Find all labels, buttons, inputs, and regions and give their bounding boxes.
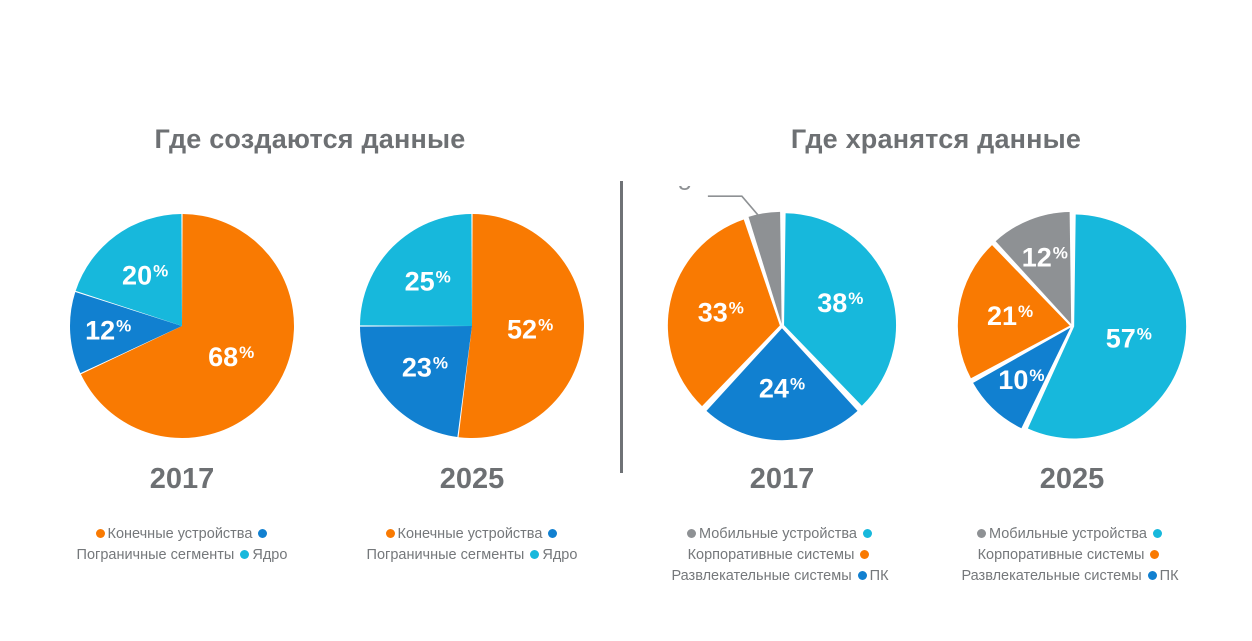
legend-dot-icon xyxy=(548,529,557,538)
pie-chart-stored-2017: 38%24%33%5% xyxy=(637,186,927,454)
pie-canvas: 57%10%21%12% xyxy=(927,186,1217,454)
legend-dot-icon xyxy=(860,550,869,559)
legend-dot-icon xyxy=(687,529,696,538)
legend-dot-icon xyxy=(863,529,872,538)
vertical-divider xyxy=(620,181,623,473)
pie-chart-created-2025: 52%23%25% xyxy=(327,186,617,454)
infographic-canvas: Где создаются данные Где хранятся данные… xyxy=(0,0,1252,641)
year-label: 2017 xyxy=(637,463,927,496)
pie-canvas: 38%24%33%5% xyxy=(637,186,927,454)
pie-canvas: 68%12%20% xyxy=(37,186,327,454)
legend-item-label: Ядро xyxy=(252,547,287,563)
legend-dot-icon xyxy=(530,550,539,559)
legend-dot-icon xyxy=(977,529,986,538)
legend-item-label: Пограничные сегменты xyxy=(77,547,235,563)
pie-svg: 57%10%21%12% xyxy=(927,186,1217,454)
legend-item-label: Пограничные сегменты xyxy=(367,547,525,563)
legend-dot-icon xyxy=(858,571,867,580)
legend-dot-icon xyxy=(258,529,267,538)
legend-created-2025: Конечные устройства Пограничные сегменты… xyxy=(322,524,622,566)
legend-dot-icon xyxy=(96,529,105,538)
legend-created-2017: Конечные устройства Пограничные сегменты… xyxy=(32,524,332,566)
year-label: 2025 xyxy=(927,463,1217,496)
legend-dot-icon xyxy=(1148,571,1157,580)
legend-item-label: ПК xyxy=(1160,568,1179,584)
legend-item-label: ПК xyxy=(870,568,889,584)
legend-dot-icon xyxy=(240,550,249,559)
pie-svg: 52%23%25% xyxy=(327,186,617,454)
legend-item-label: Мобильные устройства xyxy=(989,526,1147,542)
legend-item-label: Конечные устройства xyxy=(398,526,543,542)
panel-title-data-stored: Где хранятся данные xyxy=(620,124,1252,155)
legend-item-label: Развлекательные системы xyxy=(671,568,851,584)
legend-dot-icon xyxy=(386,529,395,538)
pie-svg: 38%24%33%5% xyxy=(637,186,927,454)
pie-canvas: 52%23%25% xyxy=(327,186,617,454)
pie-callout-label: 5% xyxy=(678,186,706,196)
legend-item-label: Ядро xyxy=(542,547,577,563)
legend-stored-2025: Мобильные устройства Корпоративные систе… xyxy=(920,524,1220,587)
legend-stored-2017: Мобильные устройства Корпоративные систе… xyxy=(630,524,930,587)
legend-item-label: Мобильные устройства xyxy=(699,526,857,542)
year-label: 2025 xyxy=(327,463,617,496)
year-label: 2017 xyxy=(37,463,327,496)
legend-dot-icon xyxy=(1153,529,1162,538)
legend-item-label: Корпоративные системы xyxy=(688,547,855,563)
legend-dot-icon xyxy=(1150,550,1159,559)
pie-svg: 68%12%20% xyxy=(37,186,327,454)
pie-chart-stored-2025: 57%10%21%12% xyxy=(927,186,1217,454)
legend-item-label: Развлекательные системы xyxy=(961,568,1141,584)
panel-title-data-created: Где создаются данные xyxy=(0,124,620,155)
legend-item-label: Конечные устройства xyxy=(108,526,253,542)
legend-item-label: Корпоративные системы xyxy=(978,547,1145,563)
pie-chart-created-2017: 68%12%20% xyxy=(37,186,327,454)
